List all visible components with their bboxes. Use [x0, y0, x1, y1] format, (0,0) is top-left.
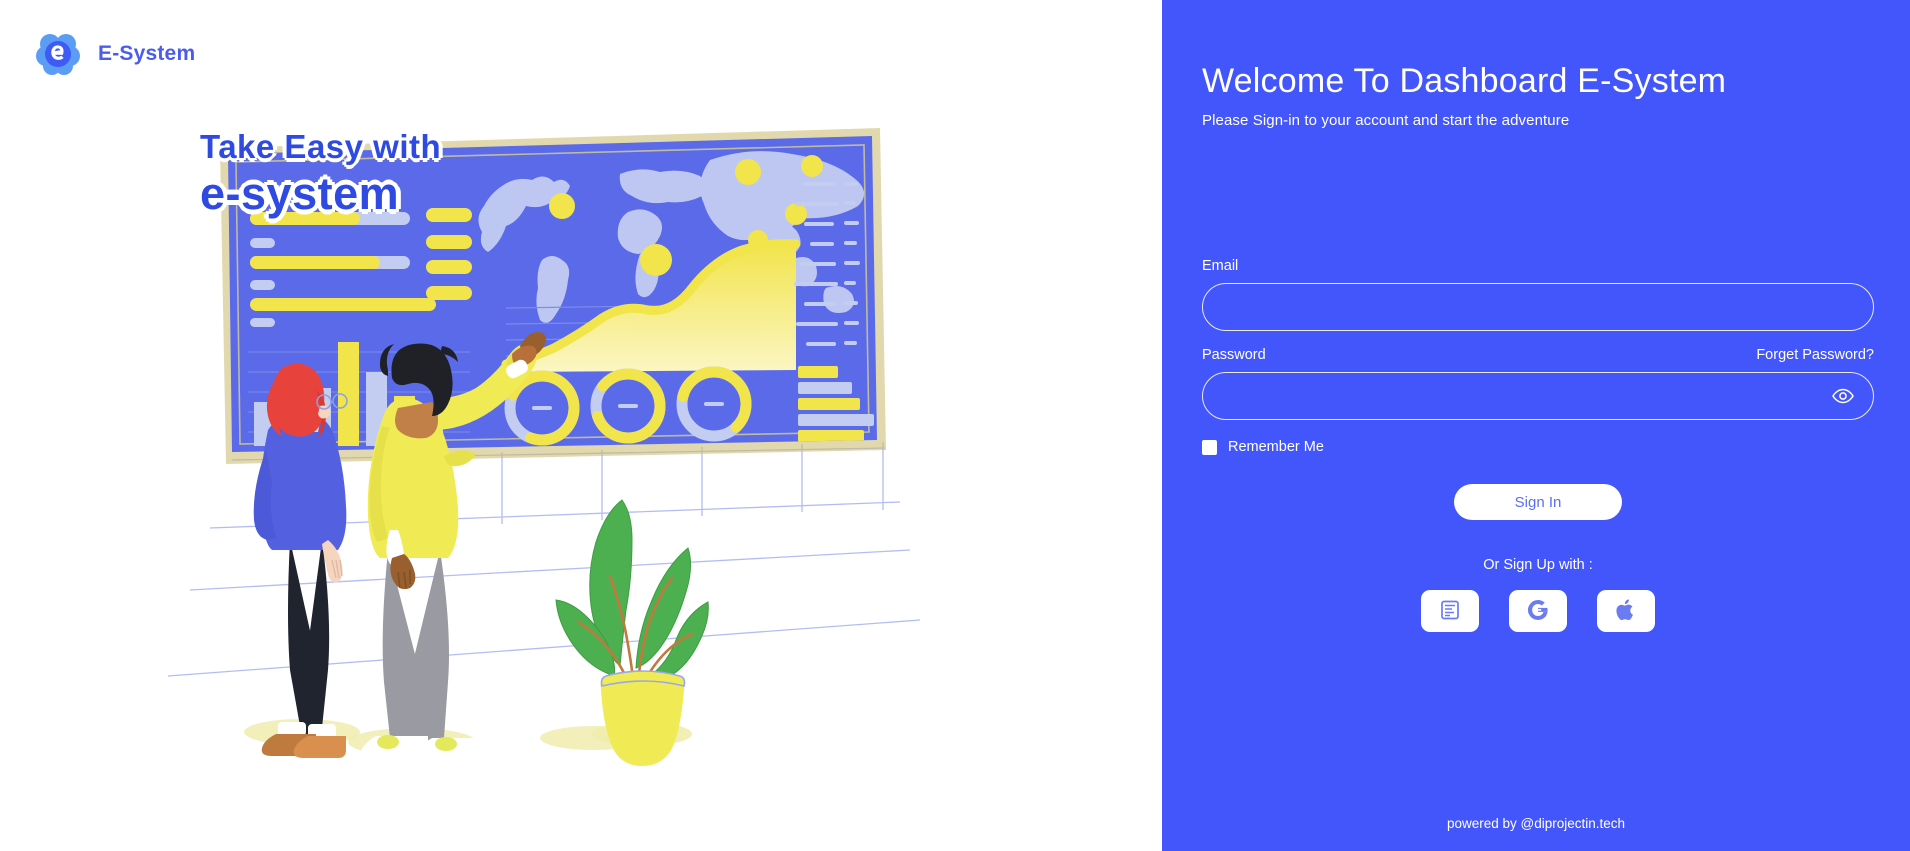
login-page: E-System: [0, 0, 1910, 851]
brand[interactable]: E-System: [34, 30, 195, 78]
clipboard-form-icon: [1438, 598, 1462, 625]
remember-me-label[interactable]: Remember Me: [1228, 439, 1324, 455]
illustration-headline: Take Easy with e-system: [200, 128, 441, 220]
social-buttons: [1202, 590, 1874, 632]
potted-plant: [556, 500, 708, 766]
remember-me-row: Remember Me: [1202, 439, 1874, 455]
headline-line-1: Take Easy with: [200, 128, 441, 166]
hero-illustration: Take Easy with e-system: [150, 120, 940, 780]
page-title: Welcome To Dashboard E-System: [1202, 62, 1726, 101]
forget-password-link[interactable]: Forget Password?: [1756, 347, 1874, 363]
left-pane: E-System: [0, 0, 1162, 851]
email-label: Email: [1202, 258, 1874, 274]
login-form: Email Password Forget Password? Remember…: [1202, 258, 1874, 632]
e-system-logo-icon: [34, 30, 82, 78]
apple-icon: [1615, 598, 1637, 625]
password-label: Password: [1202, 347, 1266, 363]
auth-pane: Welcome To Dashboard E-System Please Sig…: [1162, 0, 1910, 851]
password-field-wrap: [1202, 372, 1874, 420]
footer-credit: powered by @diprojectin.tech: [1162, 816, 1910, 831]
social-form-button[interactable]: [1421, 590, 1479, 632]
password-label-row: Password Forget Password?: [1202, 347, 1874, 363]
or-sign-up-label: Or Sign Up with :: [1202, 557, 1874, 573]
google-icon: [1526, 598, 1550, 625]
headline-line-2: e-system: [200, 168, 441, 220]
remember-me-checkbox[interactable]: [1202, 440, 1217, 455]
page-subtitle: Please Sign-in to your account and start…: [1202, 112, 1569, 129]
social-apple-button[interactable]: [1597, 590, 1655, 632]
sign-in-button[interactable]: Sign In: [1454, 484, 1622, 520]
social-google-button[interactable]: [1509, 590, 1567, 632]
password-input[interactable]: [1202, 372, 1874, 420]
email-input[interactable]: [1202, 283, 1874, 331]
brand-name: E-System: [98, 42, 195, 66]
eye-icon[interactable]: [1830, 383, 1856, 409]
